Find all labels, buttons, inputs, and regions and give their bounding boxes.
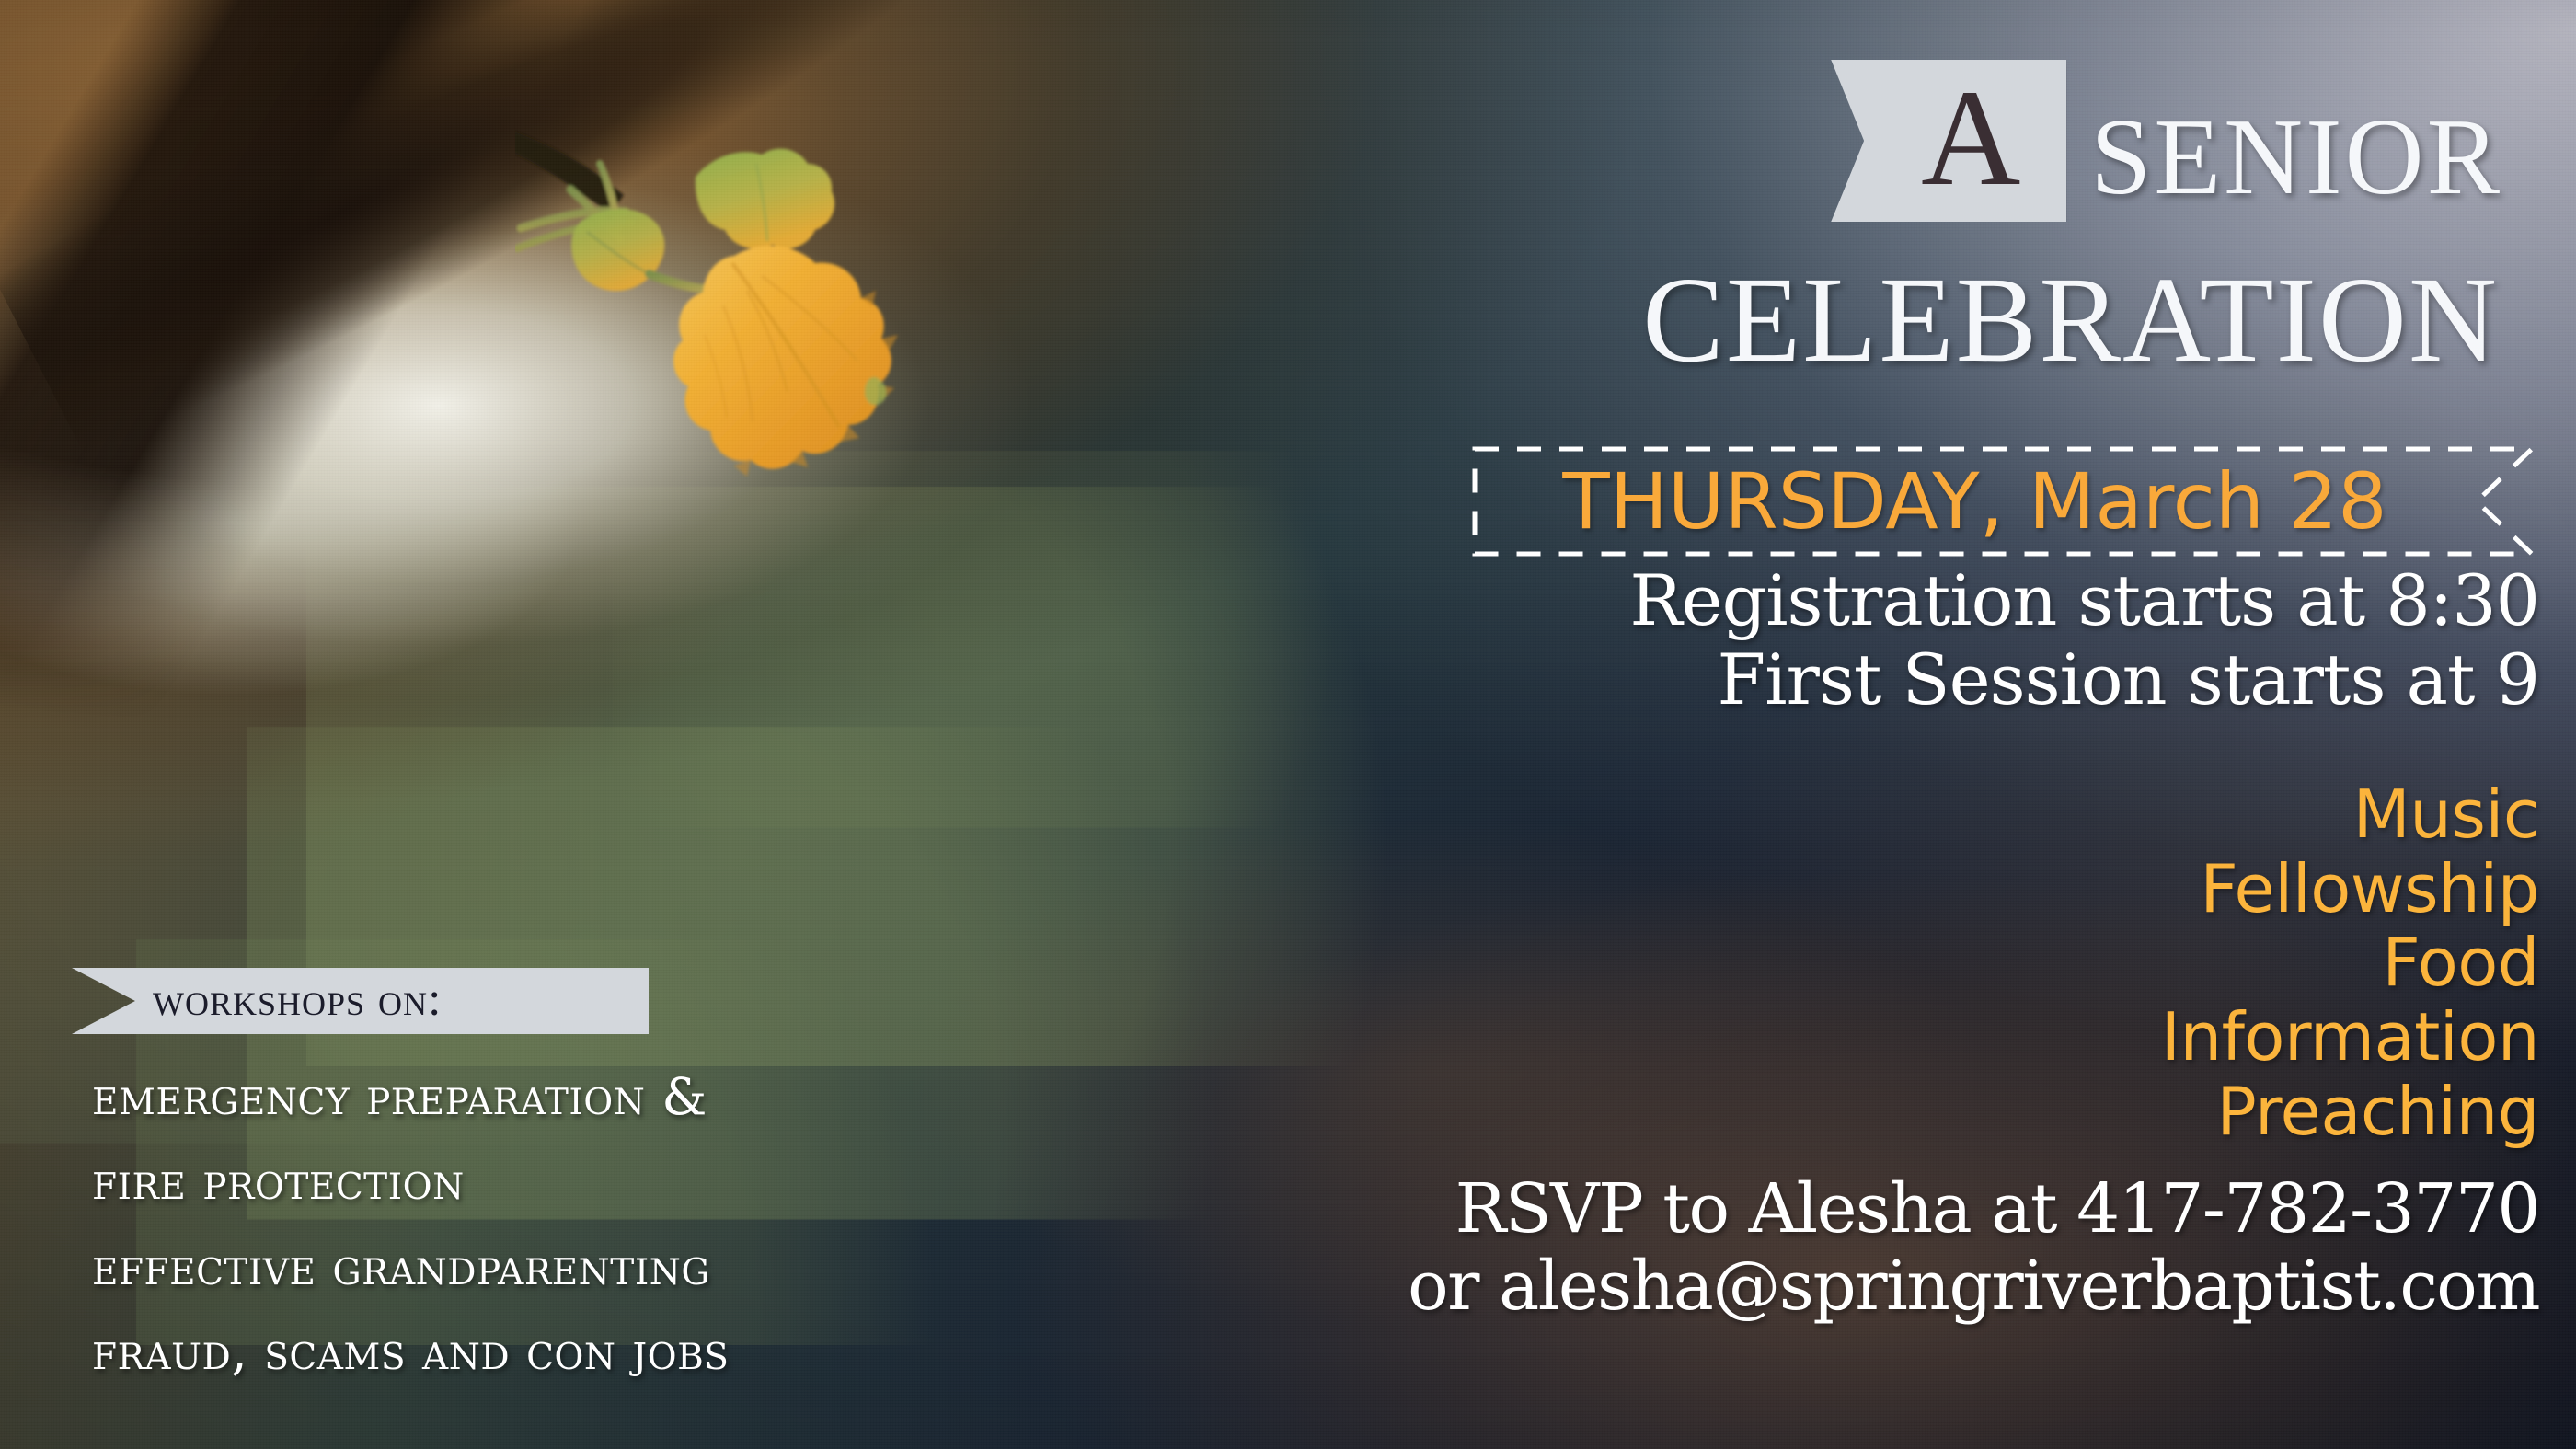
workshop-item-fraud-scams-con-jobs: Fraud, Scams and Con Jobs [92, 1309, 1139, 1394]
features-list: Music Fellowship Food Information Preach… [1564, 777, 2574, 1148]
date-banner-text: THURSDAY, March 28 [1472, 446, 2535, 557]
rsvp-email-line: or alesha@springriverbaptist.com [1159, 1248, 2539, 1325]
rsvp-phone-line: RSVP to Alesha at 417-782-3770 [1159, 1170, 2539, 1248]
date-banner: THURSDAY, March 28 [1472, 446, 2535, 557]
feature-item-information: Information [1564, 1000, 2539, 1075]
workshop-item-fire-protection: Fire Protection [92, 1139, 1139, 1224]
poster-canvas: A Senior Celebration THURSDAY, March 28 … [0, 0, 2576, 1449]
autumn-leaf-graphic [515, 110, 994, 543]
workshops-block: Workshops on: Emergency Preparation & Fi… [72, 968, 1139, 1395]
feature-item-fellowship: Fellowship [1564, 852, 2539, 926]
workshops-ribbon: Workshops on: [72, 968, 649, 1034]
letter-a-badge: A [1831, 60, 2066, 222]
letter-a-badge-text: A [1921, 69, 2020, 207]
registration-time-line: Registration starts at 8:30 [1104, 561, 2539, 640]
rsvp-block: RSVP to Alesha at 417-782-3770 or alesha… [1159, 1170, 2574, 1326]
workshop-item-emergency-preparation: Emergency Preparation & [92, 1054, 1139, 1139]
feature-item-preaching: Preaching [1564, 1075, 2539, 1149]
headline-word-celebration: Celebration [1012, 219, 2502, 386]
feature-item-music: Music [1564, 777, 2539, 852]
headline-word-senior: Senior [2090, 63, 2502, 219]
headline-block: A Senior Celebration [1012, 57, 2502, 386]
workshops-ribbon-label: Workshops on: [153, 976, 443, 1024]
headline-line-1: A Senior [1012, 57, 2502, 224]
workshops-list: Emergency Preparation & Fire Protection … [72, 1054, 1139, 1395]
first-session-time-line: First Session starts at 9 [1104, 640, 2539, 719]
workshop-item-effective-grandparenting: Effective Grandparenting [92, 1225, 1139, 1309]
session-times-block: Registration starts at 8:30 First Sessio… [1104, 561, 2574, 719]
feature-item-food: Food [1564, 926, 2539, 1000]
